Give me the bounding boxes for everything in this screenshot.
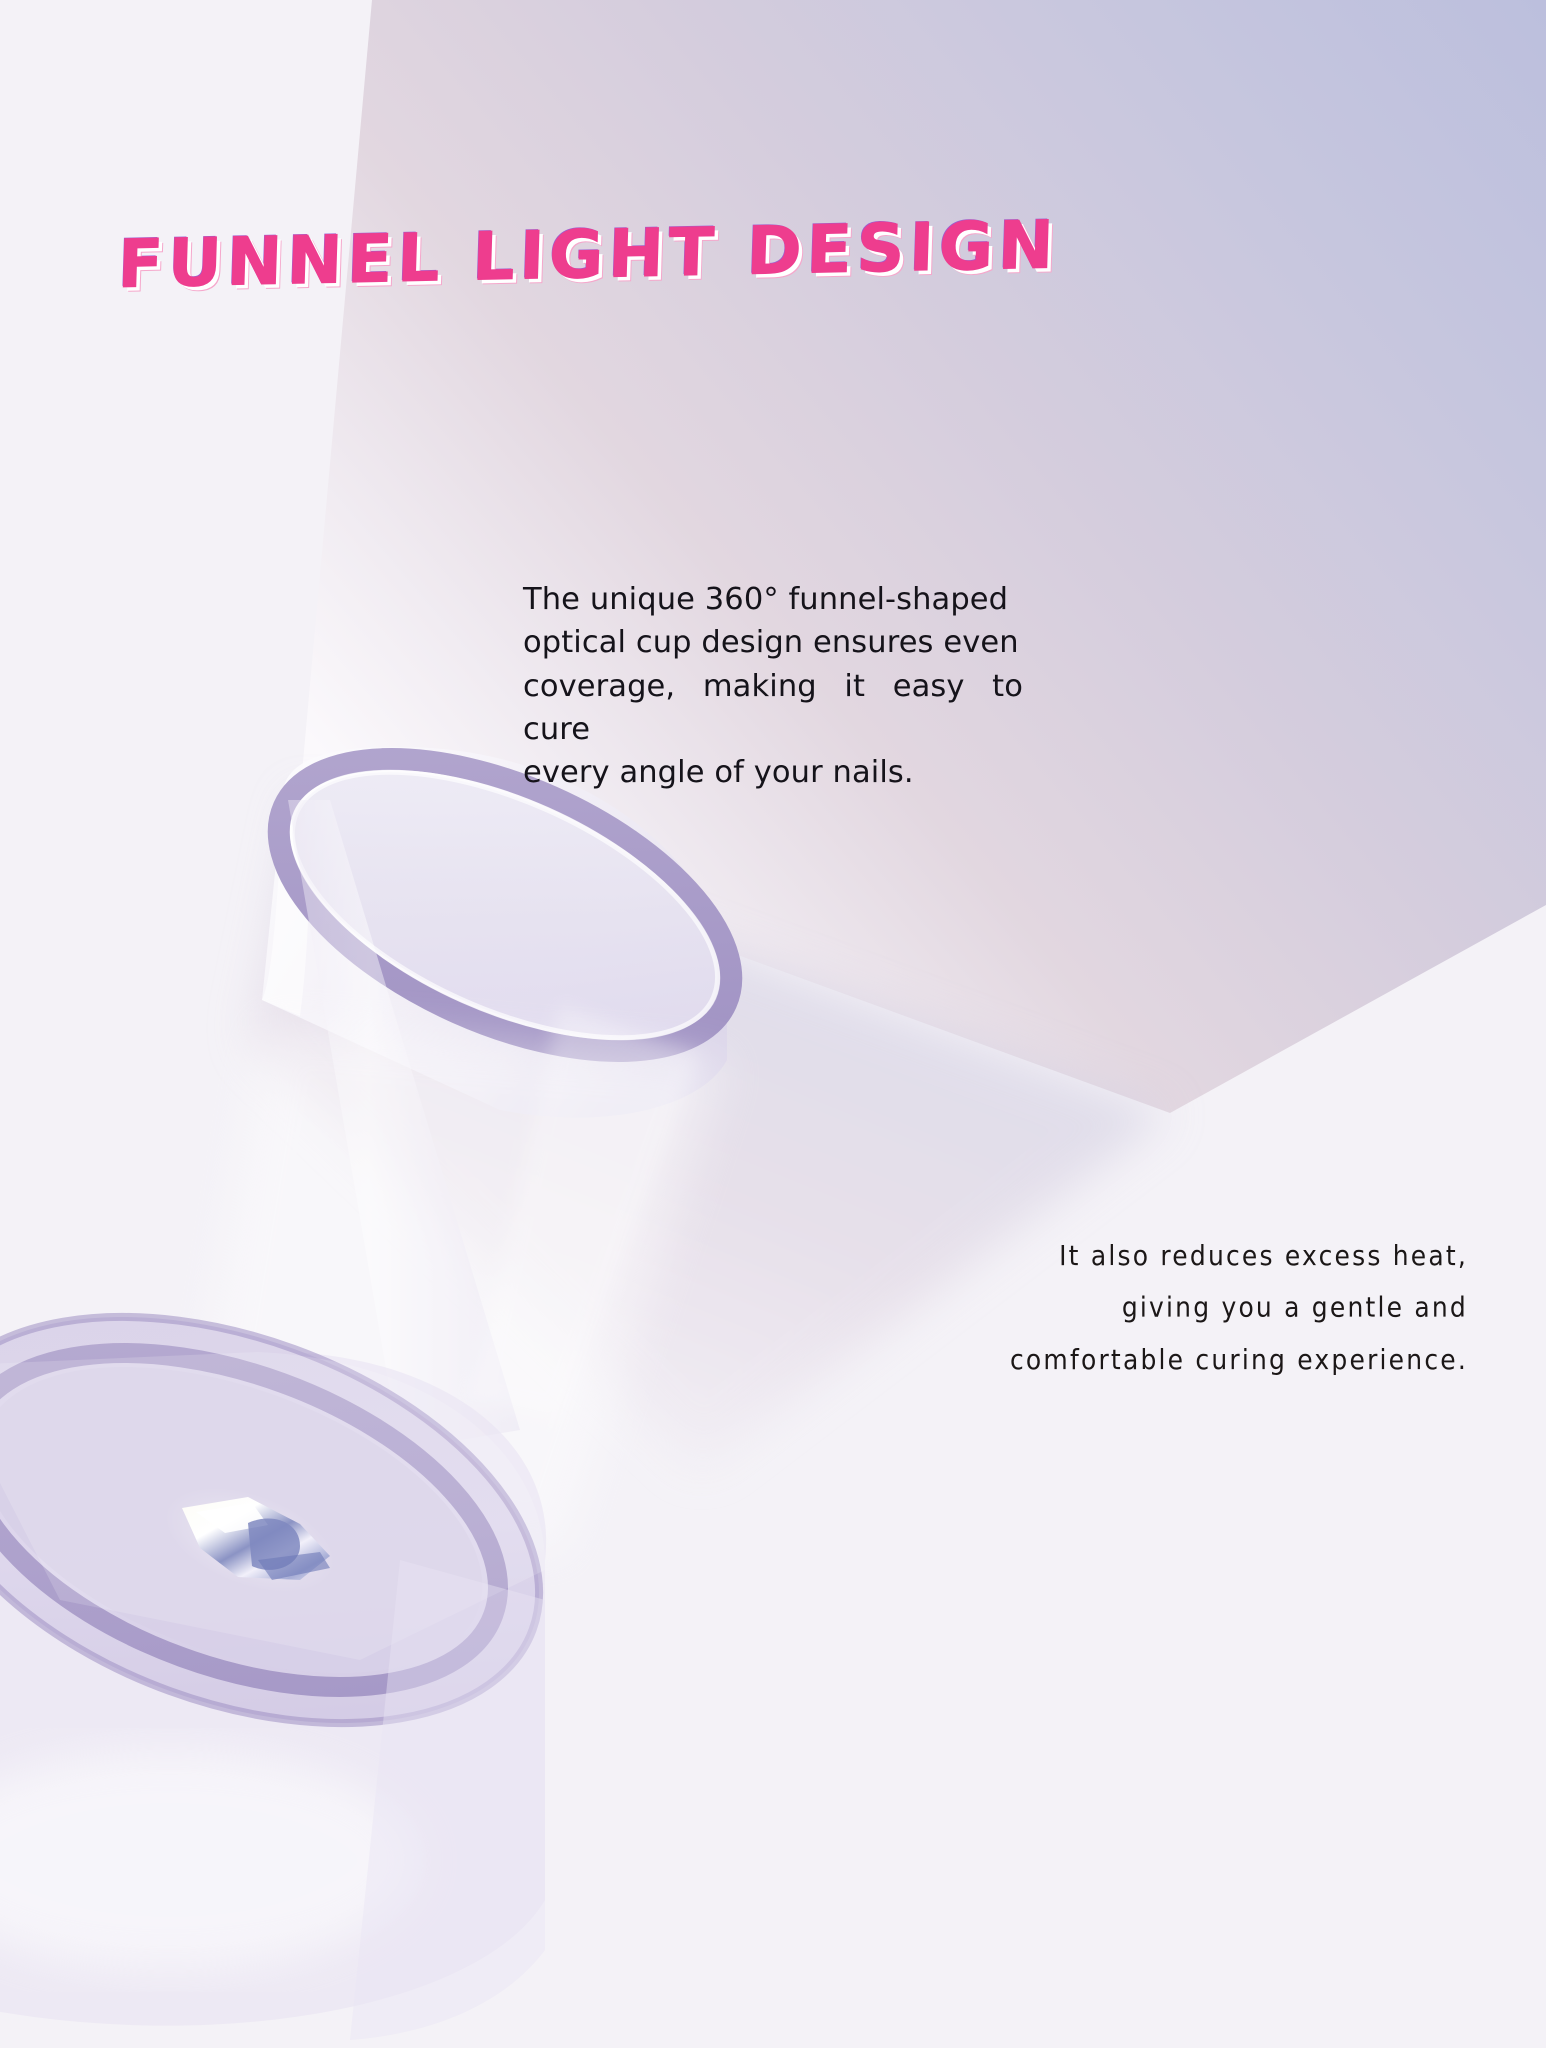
body-line-4: every angle of your nails. — [523, 751, 1023, 794]
handwritten-note: It also reduces excess heat, giving you … — [848, 1231, 1468, 1386]
body-line-3: coverage, making it easy to cure — [523, 665, 1023, 752]
note-line-2: giving you a gentle and — [848, 1282, 1468, 1334]
body-line-2: optical cup design ensures even — [523, 621, 1023, 664]
body-line-1: The unique 360° funnel-shaped — [523, 578, 1023, 621]
note-line-3: comfortable curing experience. — [848, 1334, 1468, 1386]
light-beam-cone — [0, 0, 1546, 2048]
note-line-1: It also reduces excess heat, — [848, 1231, 1468, 1283]
body-paragraph: The unique 360° funnel-shaped optical cu… — [523, 578, 1023, 794]
light-beam-layer — [0, 0, 1546, 2048]
poster-canvas: FUNNEL LIGHT DESIGN The unique 360° funn… — [0, 0, 1546, 2048]
